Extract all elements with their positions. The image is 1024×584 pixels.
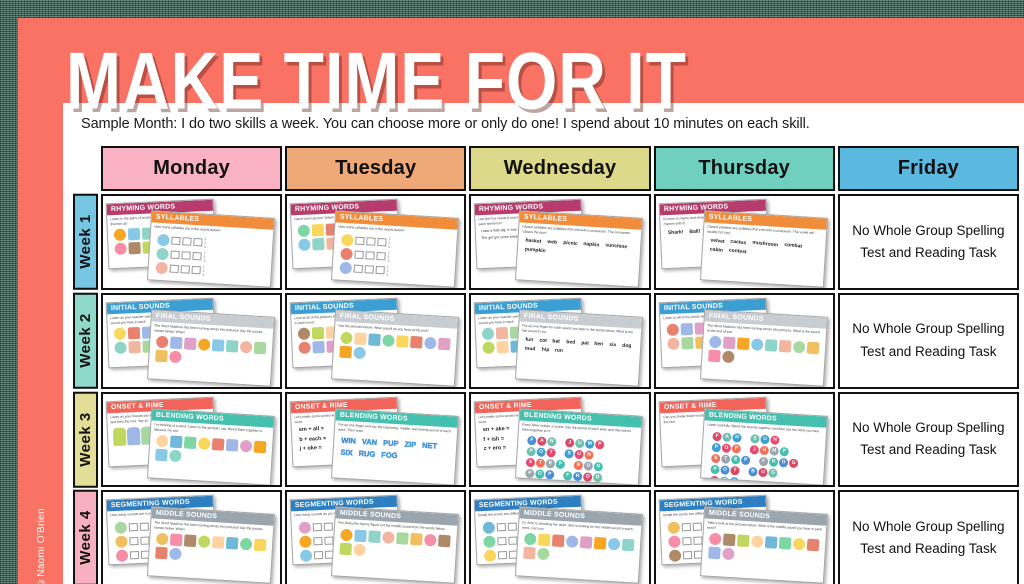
cell-week4-monday: SEGMENTING WORDSHow many sounds are in e… [101, 490, 282, 584]
picture-thumb [157, 233, 170, 246]
picture-thumb [792, 538, 805, 551]
cell-week4-thursday: SEGMENTING WORDSBreak the words into dif… [654, 490, 835, 584]
picture-thumb [226, 340, 239, 353]
picture-thumb [156, 247, 169, 260]
picture-box-grid: 123123123 [335, 231, 453, 282]
skill-card[interactable]: FINAL SOUNDSThe Word Machine has been tu… [147, 309, 275, 386]
number-options: 123 [203, 250, 205, 262]
picture-thumb [708, 350, 721, 363]
cell-week4-wednesday: SEGMENTING WORDSBreak the words into dif… [469, 490, 650, 584]
picture-thumb [680, 322, 693, 335]
picture-thumb [155, 350, 168, 363]
answer-box[interactable] [354, 264, 363, 273]
card-content: The Word Machine has been turning words … [701, 321, 825, 372]
picture-thumb [254, 440, 267, 453]
letter-bubble: S [750, 433, 760, 443]
word-item: contest [728, 247, 746, 256]
cell-week3-tuesday: ONSET & RIMELet's make some words! Add t… [285, 392, 466, 488]
answer-box[interactable] [191, 266, 200, 275]
letter-bubble: O [720, 464, 730, 474]
picture-thumb [750, 536, 763, 549]
letter-bubble: U [759, 445, 769, 455]
word-item: bed [566, 339, 575, 346]
letter-bubble-group: FANSUNPOPJUMPSTEPFROGPOTBUGLOG [703, 429, 822, 486]
letter-bubble: R [573, 471, 583, 481]
picture-thumb [538, 534, 551, 547]
bubble-word: FROG [563, 471, 602, 482]
skill-card[interactable]: SYLLABLESClosed syllables are syllables … [515, 210, 643, 287]
grid-corner-spacer [73, 146, 98, 191]
letter-bubble: T [730, 465, 740, 475]
skill-card[interactable]: BLENDING WORDSEvery letter makes a sound… [515, 408, 643, 485]
day-header-thursday: Thursday [654, 146, 835, 191]
letter-bubble: F [563, 471, 573, 481]
letter-bubble: M [585, 439, 595, 449]
picture-thumb [792, 341, 805, 354]
letter-bubble: O [778, 457, 788, 467]
word-item: RUG [358, 449, 375, 460]
cell-week1-wednesday: RHYMING WORDSLee the Fox needs a word th… [469, 194, 650, 290]
letter-bubble: P [595, 440, 605, 450]
answer-box[interactable] [130, 551, 139, 559]
picture-thumb [750, 338, 763, 351]
picture-thumb [497, 341, 510, 354]
picture-thumb [340, 345, 353, 358]
letter-bubble: P [731, 443, 741, 453]
picture-thumb [340, 247, 353, 260]
answer-box[interactable] [170, 250, 179, 259]
week-label-4: Week 4 [73, 490, 98, 584]
letter-bubble: P [525, 468, 535, 478]
card-content: Listen carefully. Blend the sounds toget… [700, 420, 826, 485]
letter-bubble: R [768, 456, 778, 466]
picture-thumb [114, 243, 127, 256]
letter-bubble: S [711, 453, 721, 463]
number-option[interactable]: 3 [387, 258, 389, 262]
word-item: six [610, 342, 617, 349]
answer-box[interactable] [498, 537, 507, 545]
word-item: combat [783, 242, 801, 251]
picture-thumb [198, 437, 211, 450]
copyright-notice: ©Naomi O'Brien [36, 488, 50, 584]
letter-bubble: G [788, 458, 798, 468]
picture-thumb [368, 333, 381, 346]
letter-bubble: P [556, 459, 566, 469]
letter-bubble: M [769, 445, 779, 455]
picture-thumb [156, 336, 169, 349]
letter-bubble: L [525, 479, 535, 485]
word-item: napkin [583, 241, 600, 249]
picture-thumb [667, 521, 680, 534]
bubble-word: SUN [565, 449, 594, 460]
letter-bubble: E [731, 454, 741, 464]
picture-thumb [438, 534, 451, 547]
cell-week2-monday: INITIAL SOUNDSListen as your teacher nam… [101, 293, 282, 389]
word-item: cabin [709, 246, 723, 254]
word-item: mud [525, 345, 536, 352]
picture-thumb [240, 341, 253, 354]
answer-box[interactable] [171, 236, 180, 245]
picture-thumb [128, 341, 141, 354]
answer-box[interactable] [508, 522, 517, 530]
skill-card[interactable]: BLENDING WORDSI'm thinking of a word. Li… [147, 408, 275, 485]
answer-box[interactable] [377, 252, 386, 261]
card-content: Closed syllables are syllables that end … [518, 222, 642, 264]
answer-box[interactable] [314, 551, 323, 559]
cell-week3-monday: ONSET & RIMEListen as your friends say t… [101, 392, 282, 488]
picture-thumb [622, 539, 635, 552]
bubble-word: POP [711, 442, 740, 453]
answer-box[interactable] [376, 266, 385, 275]
answer-box[interactable] [366, 251, 375, 260]
word-item: ZIP [404, 439, 416, 450]
number-options: 123 [386, 264, 388, 276]
letter-bubble: S [565, 449, 575, 459]
picture-thumb [212, 339, 225, 352]
cell-week1-thursday: RHYMING WORDSIt's time to rhyme and chee… [654, 194, 835, 290]
letter-bubble: P [740, 455, 750, 465]
picture-thumb [198, 338, 211, 351]
picture-thumb [353, 346, 366, 359]
picture-thumb [299, 535, 312, 548]
picture-thumb [226, 537, 239, 550]
picture-grid [336, 330, 453, 365]
number-option[interactable]: 3 [204, 244, 206, 248]
picture-thumb [410, 533, 423, 546]
letter-bubble: N [770, 434, 780, 444]
number-option[interactable]: 3 [202, 272, 204, 276]
picture-grid [152, 433, 269, 468]
picture-thumb [340, 331, 353, 344]
picture-thumb [340, 529, 353, 542]
answer-box[interactable] [313, 537, 322, 545]
letter-bubble: F [712, 431, 722, 441]
number-options: 123 [202, 264, 204, 276]
letter-bubble: O [719, 475, 729, 485]
picture-thumb [484, 549, 497, 562]
answer-box[interactable] [193, 238, 202, 247]
picture-thumb [354, 332, 367, 345]
letter-bubble: T [721, 454, 731, 464]
answer-box[interactable] [366, 237, 375, 246]
picture-thumb [169, 449, 182, 462]
bubble-word: FAN [527, 436, 556, 447]
answer-box[interactable] [681, 523, 690, 531]
letter-bubble: E [546, 459, 556, 469]
picture-thumb [806, 342, 819, 355]
picture-thumb [709, 533, 722, 546]
letter-bubble: T [536, 458, 546, 468]
picture-thumb [764, 537, 777, 550]
word-item: pumpkin [525, 246, 546, 255]
skill-card[interactable]: MIDDLE SOUNDSDr. Amir is checking her ch… [515, 507, 643, 584]
picture-thumb [298, 327, 311, 340]
skill-card[interactable]: MIDDLE SOUNDSFox Detective Nanny figure … [331, 507, 459, 584]
word-item: WIN [341, 435, 356, 446]
word-item: sunshine [605, 242, 627, 251]
skill-card[interactable]: SYLLABLESHow many syllables are in the w… [147, 210, 275, 287]
word-item: hen [595, 341, 604, 348]
word-item: velvet [710, 238, 725, 246]
skill-card[interactable]: BLENDING WORDSPut up one finger and say … [331, 408, 459, 485]
week-label-2: Week 2 [73, 293, 98, 389]
letter-bubble: G [545, 481, 555, 486]
word-item: Shark! [667, 230, 683, 237]
picture-thumb [722, 336, 735, 349]
letter-bubble: F [527, 436, 537, 446]
picture-thumb [212, 438, 225, 451]
card-content: The Word Machine has been turning words … [149, 519, 273, 570]
picture-thumb [594, 537, 607, 550]
card-content: Say the pictures below. What sound do yo… [333, 321, 457, 367]
person-figure [127, 427, 141, 446]
cell-week4-friday: No Whole Group Spelling Test and Reading… [838, 490, 1019, 584]
cell-week2-tuesday: INITIAL SOUNDSLook at all of the picture… [285, 293, 466, 389]
letter-bubble: N [732, 432, 742, 442]
picture-thumb [298, 224, 311, 237]
picture-thumb [240, 538, 253, 551]
picture-thumb [128, 242, 141, 255]
picture-thumb [312, 327, 325, 340]
picture-thumb [424, 534, 437, 547]
letter-bubble: J [565, 438, 575, 448]
picture-thumb [299, 341, 312, 354]
picture-thumb [353, 543, 366, 556]
picture-thumb [170, 336, 183, 349]
letter-bubble: O [535, 480, 545, 485]
answer-box[interactable] [498, 551, 507, 559]
bubble-word: BUG [574, 460, 603, 471]
picture-thumb [254, 539, 267, 552]
bubble-word: FAN [712, 431, 741, 442]
word-item: basket [525, 238, 541, 246]
card-content: Put up one finger and say the beginning,… [333, 420, 457, 469]
picture-thumb [156, 434, 169, 447]
word-item: pat [581, 340, 589, 347]
answer-box[interactable] [140, 522, 149, 530]
picture-thumb [312, 238, 325, 251]
cell-week1-tuesday: RHYMING WORDSName each picture. Which pi… [285, 194, 466, 290]
picture-thumb [668, 549, 681, 562]
picture-thumb [736, 337, 749, 350]
answer-box[interactable] [682, 537, 691, 545]
picture-thumb [382, 531, 395, 544]
picture-thumb [438, 337, 451, 350]
card-content: How many syllables are in the words belo… [148, 222, 273, 284]
word-item: VAN [362, 437, 378, 448]
picture-thumb [709, 336, 722, 349]
card-content: I'm thinking of a word. Listen to the so… [149, 420, 273, 471]
picture-thumb [424, 336, 437, 349]
picture-box-grid: 123123123 [151, 231, 269, 282]
picture-thumb [483, 521, 496, 534]
letter-bubble: O [537, 447, 547, 457]
word-item: NET [422, 440, 438, 451]
week-label-3: Week 3 [73, 392, 98, 488]
letter-bubble: A [537, 436, 547, 446]
letter-bubble: P [710, 464, 720, 474]
skill-card[interactable]: FINAL SOUNDSThe Word Machine has been tu… [700, 309, 828, 386]
answer-box[interactable] [497, 523, 506, 531]
week-label-1: Week 1 [73, 194, 98, 290]
picture-thumb [722, 534, 735, 547]
number-options: 123 [204, 236, 206, 248]
answer-box[interactable] [182, 237, 191, 246]
picture-thumb [580, 537, 593, 550]
letter-bubble: J [749, 444, 759, 454]
word-item: run [555, 347, 563, 354]
skill-card[interactable]: BLENDING WORDSListen carefully. Blend th… [700, 408, 828, 485]
bubble-word: LOG [709, 475, 738, 485]
picture-thumb [608, 538, 621, 551]
skill-card[interactable]: SYLLABLESClosed syllables are syllables … [700, 210, 828, 287]
letter-bubble: G [594, 462, 604, 472]
picture-thumb [155, 448, 168, 461]
bubble-word: POT [710, 464, 739, 475]
picture-thumb [410, 335, 423, 348]
bubble-word: LOG [525, 479, 554, 485]
picture-thumb [523, 547, 536, 560]
day-header-wednesday: Wednesday [469, 146, 650, 191]
bubble-word: STEP [711, 453, 750, 464]
bubble-word: FROG [758, 456, 797, 467]
letter-bubble: U [584, 461, 594, 471]
letter-bubble: O [535, 469, 545, 479]
answer-box[interactable] [693, 536, 702, 544]
word-item: PUP [383, 438, 399, 449]
picture-thumb [170, 534, 183, 547]
answer-box[interactable] [129, 537, 138, 545]
picture-thumb [170, 435, 183, 448]
picture-thumb [778, 340, 791, 353]
person-figure [113, 427, 127, 446]
picture-thumb [300, 549, 313, 562]
bubble-word: SUN [750, 433, 779, 444]
picture-thumb [128, 327, 141, 340]
picture-grid [520, 532, 637, 567]
answer-box[interactable] [180, 265, 189, 274]
answer-box[interactable] [169, 264, 178, 273]
card-content: Put up one finger for each sound you hea… [518, 321, 642, 363]
picture-thumb [552, 535, 565, 548]
bubble-word: BUG [748, 466, 777, 477]
bubble-word: STEP [526, 457, 565, 468]
picture-thumb [198, 536, 211, 549]
word-item: Ball! [689, 229, 700, 236]
letter-bubble: P [779, 446, 789, 456]
picture-thumb [212, 537, 225, 550]
letter-bubble: B [574, 460, 584, 470]
picture-thumb [484, 535, 497, 548]
picture-thumb [313, 341, 326, 354]
answer-box[interactable] [692, 522, 701, 530]
picture-thumb [382, 334, 395, 347]
cell-week1-monday: RHYMING WORDSListen to the pairs of word… [101, 194, 282, 290]
picture-thumb [537, 548, 550, 561]
letter-bubble: U [575, 438, 585, 448]
answer-box[interactable] [355, 250, 364, 259]
letter-bubble: N [585, 450, 595, 460]
picture-thumb [169, 548, 182, 561]
letter-bubble: U [575, 449, 585, 459]
picture-thumb [114, 229, 127, 242]
picture-thumb [240, 439, 253, 452]
picture-thumb [736, 535, 749, 548]
picture-thumb [184, 337, 197, 350]
picture-thumb [341, 233, 354, 246]
poster-background: ©Naomi O'Brien MAKE TIME FOR IT Sample M… [18, 18, 1024, 584]
letter-bubble: O [721, 443, 731, 453]
answer-box[interactable] [192, 252, 201, 261]
letter-bubble: P [527, 447, 537, 457]
letter-bubble-group: FANJUMPPOTSUNSTEPBUGPOPFROGLOG [519, 433, 638, 485]
picture-thumb [496, 327, 509, 340]
word-item: web [547, 239, 557, 247]
answer-box[interactable] [181, 251, 190, 260]
picture-thumb [156, 533, 169, 546]
answer-box[interactable] [377, 238, 386, 247]
picture-thumb [483, 341, 496, 354]
answer-box[interactable] [324, 522, 333, 530]
skill-card[interactable]: FINAL SOUNDSPut up one finger for each s… [515, 309, 643, 386]
skill-card[interactable]: MIDDLE SOUNDSTake a look at the pictures… [700, 507, 828, 584]
skill-card[interactable]: SYLLABLESHow many syllables are in the w… [331, 210, 459, 287]
picture-thumb [115, 521, 128, 534]
answer-box[interactable] [355, 236, 364, 245]
picture-thumb [114, 341, 127, 354]
picture-thumb [681, 336, 694, 349]
picture-thumb [312, 224, 325, 237]
picture-grid [705, 532, 822, 567]
picture-thumb [226, 439, 239, 452]
answer-box[interactable] [129, 523, 138, 531]
letter-bubble: A [722, 432, 732, 442]
bubble-word: POT [527, 447, 556, 458]
card-content: Dr. Amir is checking her chart. She is l… [517, 519, 641, 570]
number-option[interactable]: 3 [386, 272, 388, 276]
picture-thumb [764, 339, 777, 352]
picture-thumb [254, 342, 267, 355]
picture-thumb [340, 262, 353, 275]
answer-box[interactable] [313, 523, 322, 531]
number-option[interactable]: 3 [203, 258, 205, 262]
word-item: dog [622, 343, 631, 350]
picture-thumb [116, 549, 129, 562]
number-options: 123 [387, 250, 389, 262]
letter-bubble: L [709, 475, 719, 485]
answer-box[interactable] [365, 265, 374, 274]
cell-week3-friday: No Whole Group Spelling Test and Reading… [838, 392, 1019, 488]
letter-bubble: B [748, 466, 758, 476]
skill-card[interactable]: FINAL SOUNDSSay the pictures below. What… [331, 309, 459, 386]
cell-week2-thursday: INITIAL SOUNDSListen to all of the words… [654, 293, 835, 389]
picture-thumb [298, 238, 311, 251]
word-item: cot [539, 338, 547, 345]
bubble-word: JUMP [565, 438, 604, 449]
picture-thumb [482, 327, 495, 340]
answer-box[interactable] [682, 551, 691, 559]
picture-thumb [169, 350, 182, 363]
schedule-table: MondayTuesdayWednesdayThursdayFridayWeek… [73, 146, 1019, 584]
letter-bubble: G [593, 473, 603, 483]
page-title: MAKE TIME FOR IT [66, 40, 687, 121]
bubble-word: JUMP [749, 444, 788, 455]
picture-thumb [155, 547, 168, 560]
picture-grid [336, 527, 453, 562]
number-option[interactable]: 3 [388, 244, 390, 248]
skill-card[interactable]: MIDDLE SOUNDSThe Word Machine has been t… [147, 507, 275, 584]
word-item: bat [553, 338, 561, 345]
